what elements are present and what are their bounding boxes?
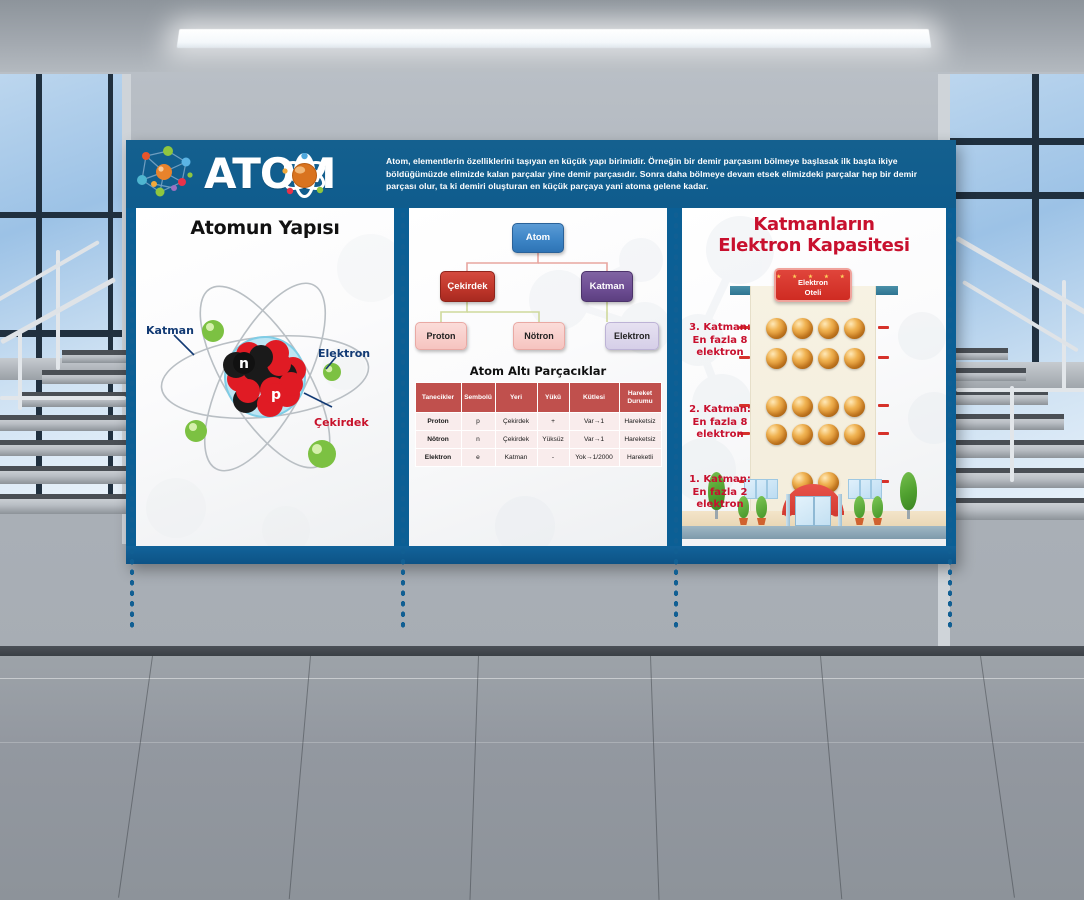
atom-structure-diagram: n p [136, 239, 394, 519]
banner-footer-bar [126, 546, 956, 564]
label-cekirdek: Çekirdek [314, 416, 369, 429]
label-elektron: Elektron [318, 347, 370, 360]
window-mullion [1032, 74, 1039, 404]
banner-logo-wordmark: ATOM [204, 152, 372, 196]
layer-label-1: 1. Katman: En fazla 2 elektron [684, 474, 756, 512]
wall-skirting [0, 646, 1084, 656]
electron-ball [844, 348, 865, 369]
panel-divider-dots [128, 210, 136, 632]
room-scene: ATOM Atom, eleme [0, 0, 1084, 900]
atom-hierarchy-flowchart: Atom Çekirdek Katman Proton Nötron Elekt… [409, 208, 667, 363]
electron-ball [818, 396, 839, 417]
layer-1-name: 1. Katman: [684, 474, 756, 487]
svg-text:n: n [239, 356, 249, 372]
molecule-logo-icon [130, 142, 202, 206]
flow-node-cekirdek[interactable]: Çekirdek [440, 271, 495, 302]
electron-ball [844, 396, 865, 417]
electron-ball [792, 318, 813, 339]
potted-bush [756, 496, 767, 525]
layer-2-capacity-2: elektron [684, 429, 756, 442]
flow-node-atom[interactable]: Atom [512, 223, 564, 253]
panel-atom-parts: Atom Çekirdek Katman Proton Nötron Elekt… [409, 208, 667, 546]
layer-tick-right [878, 326, 889, 329]
svg-text:p: p [271, 387, 281, 403]
panel-divider-dots [946, 210, 954, 632]
tiled-floor [0, 656, 1084, 900]
window-mullion [950, 192, 1084, 199]
hotel-entrance-door[interactable] [795, 496, 831, 526]
potted-bush [854, 496, 865, 525]
layer-3-name: 3. Katman: [684, 322, 756, 335]
hotel-pavement [682, 526, 946, 539]
layer-tick-right [878, 432, 889, 435]
electron-ball [766, 396, 787, 417]
window-mullion [36, 74, 42, 494]
ceiling-light-fixture [177, 29, 932, 48]
flow-node-proton[interactable]: Proton [415, 322, 467, 350]
hotel-sign: ★ ★ ★ ★ ★ Elektron Oteli [774, 268, 852, 302]
layer-1-capacity-1: En fazla 2 [684, 487, 756, 500]
layer-label-2: 2. Katman: En fazla 8 elektron [684, 404, 756, 442]
layer-tick-right [878, 404, 889, 407]
awning-column [838, 494, 842, 526]
layer-label-3: 3. Katman: En fazla 8 elektron [684, 322, 756, 360]
layer-2-capacity-1: En fazla 8 [684, 417, 756, 430]
panel-divider-dots [672, 210, 680, 632]
electron-ball [818, 348, 839, 369]
atom-o-letter-icon [282, 153, 327, 198]
tree [900, 472, 917, 519]
electron-ball [792, 396, 813, 417]
panel-electron-capacity: Katmanların Elektron Kapasitesi ★ ★ ★ ★ … [682, 208, 946, 546]
layer-tick-right [878, 356, 889, 359]
electron-ball [766, 424, 787, 445]
hotel-sign-line-2: Oteli [776, 288, 850, 298]
electron-ball [844, 424, 865, 445]
layer-3-capacity-2: elektron [684, 347, 756, 360]
flow-node-elektron[interactable]: Elektron [605, 322, 659, 350]
label-katman: Katman [146, 324, 194, 337]
banner-header: ATOM Atom, eleme [126, 140, 956, 208]
panel-atom-structure: Atomun Yapısı [136, 208, 394, 546]
atom-wall-banner: ATOM Atom, eleme [126, 140, 956, 564]
window-mullion [950, 138, 1084, 145]
panel-title-electron-capacity: Katmanların Elektron Kapasitesi [682, 208, 946, 256]
panel-divider-dots [399, 210, 407, 632]
electron-ball [792, 348, 813, 369]
electron-hotel-illustration: ★ ★ ★ ★ ★ Elektron Oteli [682, 256, 946, 541]
flow-node-notron[interactable]: Nötron [513, 322, 565, 350]
electron-ball [766, 348, 787, 369]
electron-ball [844, 318, 865, 339]
awning-column [786, 494, 790, 526]
potted-bush [872, 496, 883, 525]
flow-node-katman[interactable]: Katman [581, 271, 633, 302]
title-line-1: Katmanların [682, 214, 946, 235]
hotel-sign-stars: ★ ★ ★ ★ ★ [776, 272, 850, 282]
electron-ball [818, 424, 839, 445]
electron-ball [766, 318, 787, 339]
banner-intro-paragraph: Atom, elementlerin özelliklerini taşıyan… [372, 155, 956, 192]
layer-2-name: 2. Katman: [684, 404, 756, 417]
title-line-2: Elektron Kapasitesi [682, 235, 946, 256]
electron-ball [792, 424, 813, 445]
electron-ball [818, 318, 839, 339]
layer-3-capacity-1: En fazla 8 [684, 335, 756, 348]
layer-1-capacity-2: elektron [684, 499, 756, 512]
